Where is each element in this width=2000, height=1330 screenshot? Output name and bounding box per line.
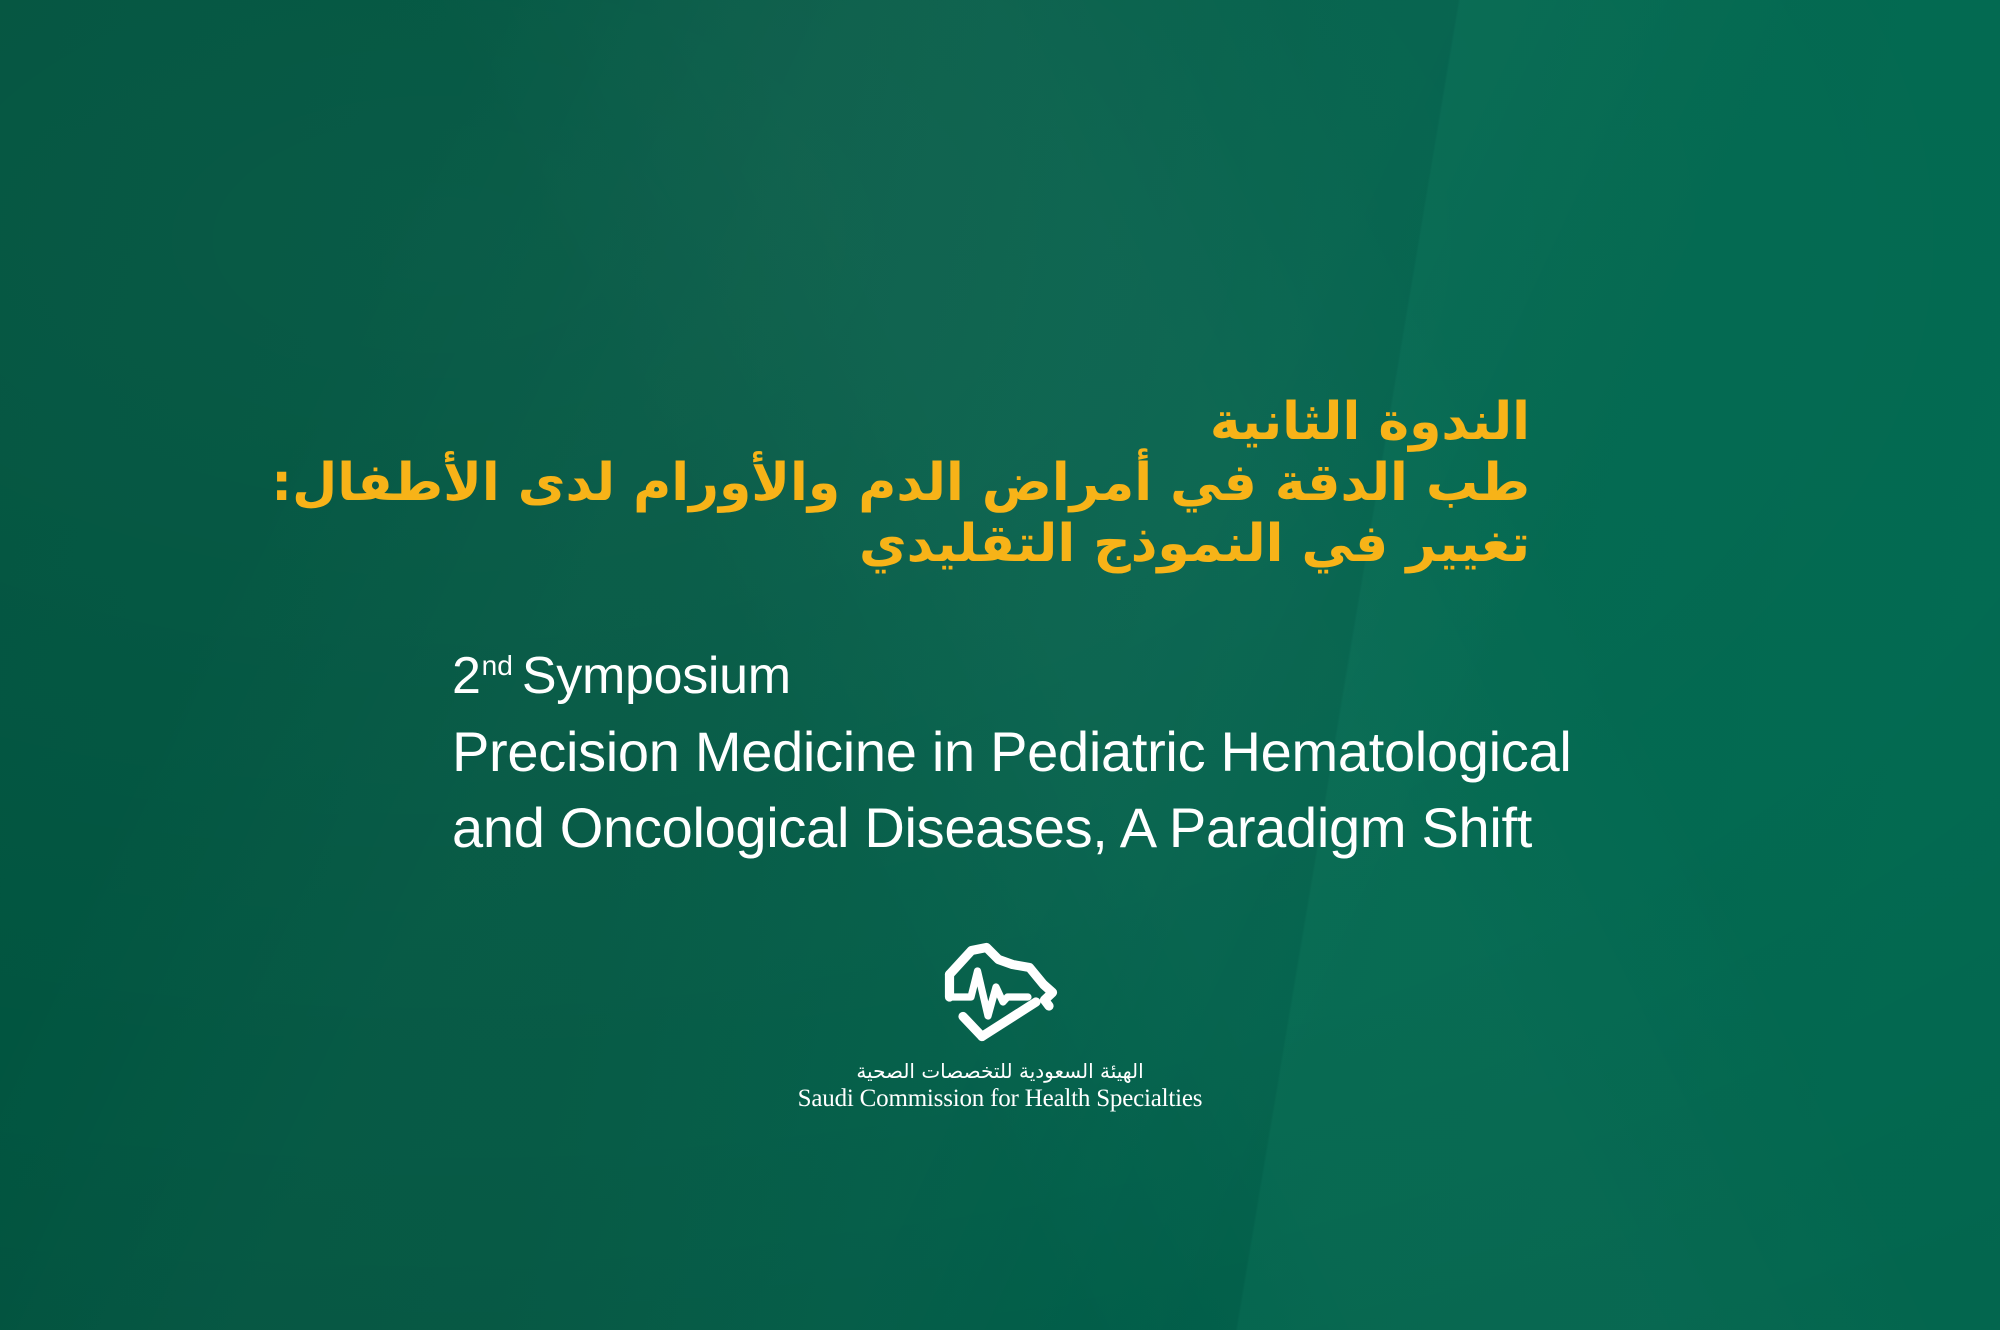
english-title-line-1: 2ndSymposium bbox=[452, 650, 1571, 702]
ordinal-number: 2 bbox=[452, 647, 481, 705]
english-title: 2ndSymposium Precision Medicine in Pedia… bbox=[452, 650, 1571, 856]
arabic-title-line-2: طب الدقة في أمراض الدم والأورام لدى الأط… bbox=[470, 453, 1530, 514]
arabic-title-line-1: الندوة الثانية bbox=[470, 392, 1530, 453]
logo-lockup: الهيئة السعودية للتخصصات الصحية Saudi Co… bbox=[0, 940, 2000, 1113]
arabic-title-line-3: تغيير في النموذج التقليدي bbox=[470, 514, 1530, 575]
logo-organization-arabic: الهيئة السعودية للتخصصات الصحية bbox=[798, 1060, 1203, 1082]
english-title-line-2: Precision Medicine in Pediatric Hematolo… bbox=[452, 724, 1571, 780]
logo-wordmark: الهيئة السعودية للتخصصات الصحية Saudi Co… bbox=[798, 1060, 1203, 1113]
event-type: Symposium bbox=[522, 647, 791, 705]
english-title-line-3: and Oncological Diseases, A Paradigm Shi… bbox=[452, 800, 1571, 856]
ordinal-suffix: nd bbox=[482, 650, 513, 681]
arabic-title: الندوة الثانية طب الدقة في أمراض الدم وا… bbox=[470, 392, 1530, 575]
symposium-poster: الندوة الثانية طب الدقة في أمراض الدم وا… bbox=[0, 0, 2000, 1330]
saudi-arabia-map-ecg-heartbeat-icon bbox=[941, 940, 1059, 1044]
logo-organization-english: Saudi Commission for Health Specialties bbox=[798, 1085, 1203, 1113]
